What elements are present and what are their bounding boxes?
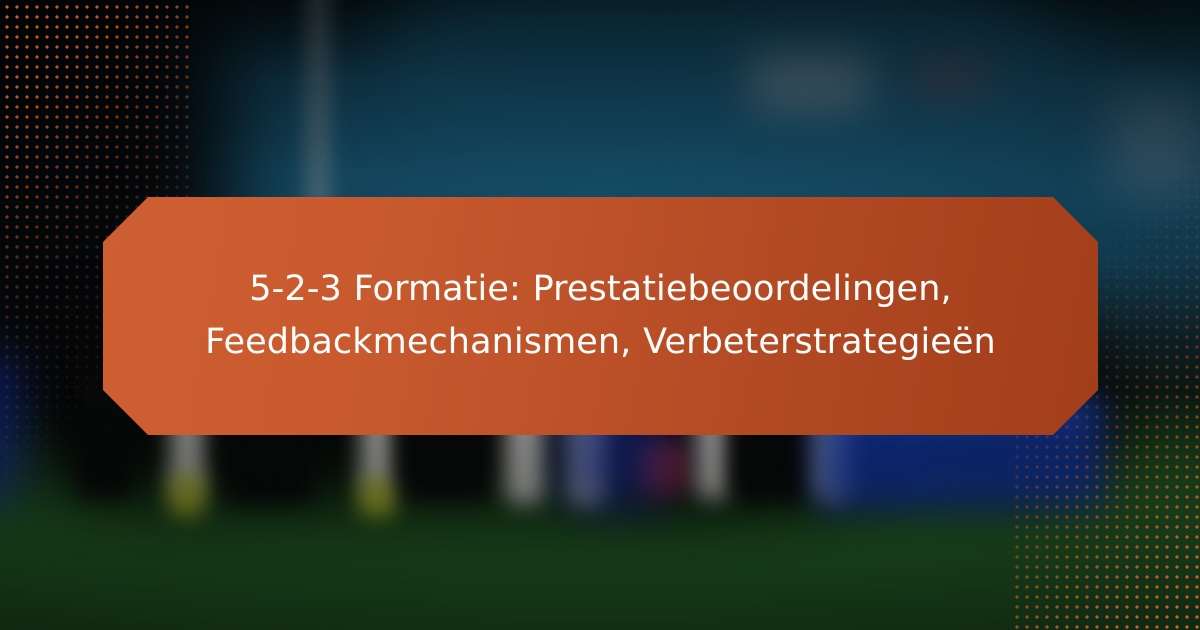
title-banner: 5-2-3 Formatie: Prestatiebeoordelingen, …: [103, 197, 1098, 435]
page-title: 5-2-3 Formatie: Prestatiebeoordelingen, …: [201, 263, 1001, 369]
social-card: 5-2-3 Formatie: Prestatiebeoordelingen, …: [0, 0, 1200, 630]
